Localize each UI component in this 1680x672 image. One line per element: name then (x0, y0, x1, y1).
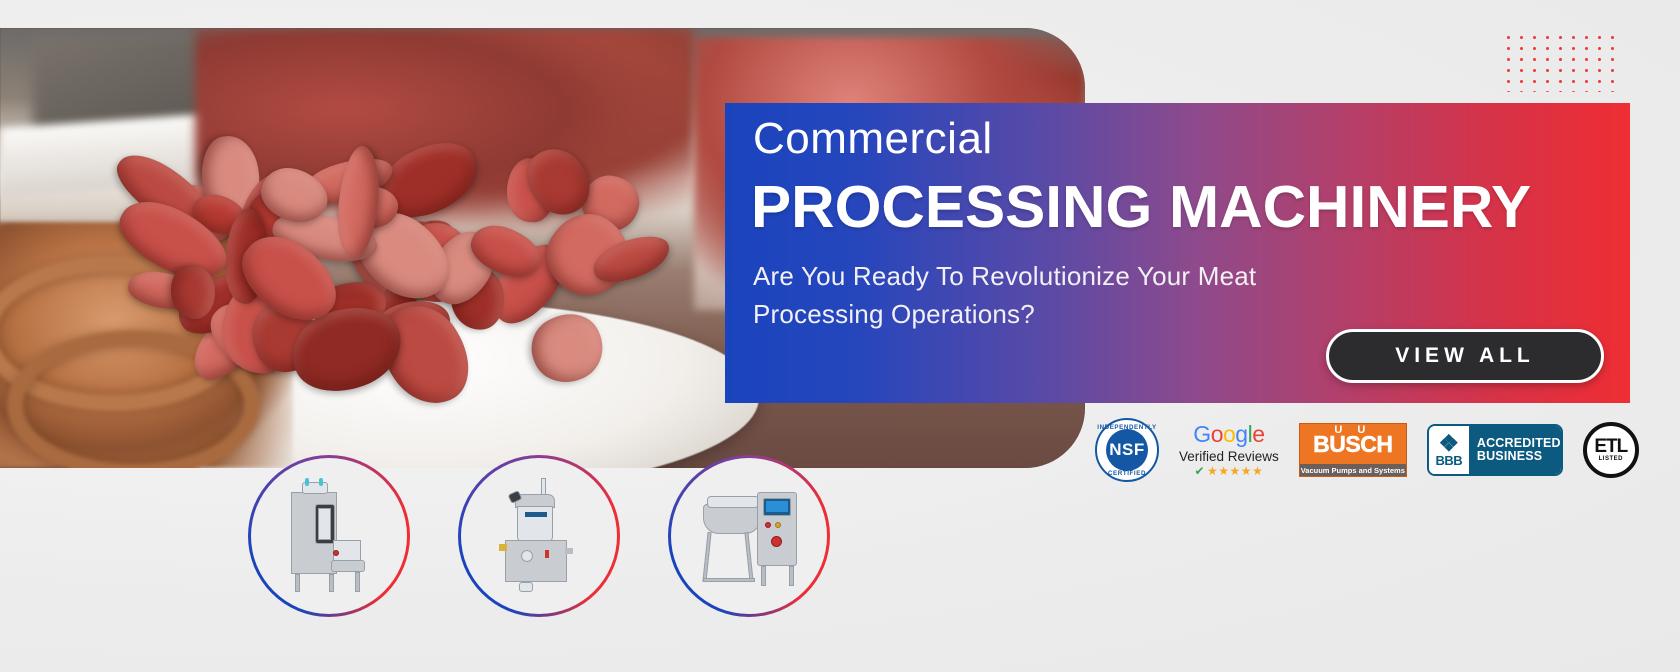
star-glyphs: ★★★★★ (1207, 465, 1263, 479)
bbb-accredited-business-badge: ❖ BBB ACCREDITED BUSINESS (1427, 424, 1563, 476)
dot-grid-decoration (1500, 30, 1624, 92)
bbb-line-2: BUSINESS (1477, 450, 1543, 464)
nsf-ring-bottom-text: CERTIFIED (1097, 470, 1157, 477)
hero-eyebrow: Commercial (753, 117, 993, 161)
nsf-logo-text: NSF (1106, 429, 1148, 471)
hero-subcopy: Are You Ready To Revolutionize Your Meat… (753, 258, 1373, 333)
google-star-rating: ✔ ★★★★★ (1179, 465, 1279, 479)
product-circle-inner (461, 458, 617, 614)
bbb-text-section: ACCREDITED BUSINESS (1469, 426, 1561, 474)
product-circle-meat-slicer-machine[interactable] (248, 455, 410, 617)
vacuum-filler-machine-illustration (485, 478, 593, 594)
view-all-button[interactable]: VIEW ALL (1326, 329, 1604, 383)
nsf-certified-badge: INDEPENDENTLY NSF CERTIFIED (1095, 418, 1159, 482)
etl-listed-badge: ETL LISTED (1583, 422, 1639, 478)
product-circle-meat-mixer-machine[interactable] (668, 455, 830, 617)
product-circle-inner (251, 458, 407, 614)
etl-listed-text: LISTED (1599, 456, 1623, 462)
meat-mixer-machine-illustration (695, 478, 803, 594)
product-circle-row (248, 455, 830, 617)
nsf-ring-top-text: INDEPENDENTLY (1097, 424, 1157, 431)
etl-wordmark: ETL (1594, 438, 1627, 456)
meat-slicer-machine-illustration (275, 478, 383, 594)
hero-headline: PROCESSING MACHINERY (751, 178, 1531, 237)
product-circle-vacuum-filler-machine[interactable] (458, 455, 620, 617)
bbb-torch-section: ❖ BBB (1429, 426, 1469, 474)
product-circle-inner (671, 458, 827, 614)
google-reviews-caption: Verified Reviews (1179, 449, 1279, 465)
bbb-abbreviation: BBB (1435, 453, 1462, 468)
busch-logo-badge: U U BUSCH Vacuum Pumps and Systems (1299, 423, 1407, 477)
google-verified-reviews-badge: Google Verified Reviews ✔ ★★★★★ (1179, 421, 1279, 479)
trust-badge-row: INDEPENDENTLY NSF CERTIFIED Google Verif… (1095, 418, 1639, 482)
busch-tagline: Vacuum Pumps and Systems (1300, 464, 1406, 476)
google-wordmark: Google (1179, 421, 1279, 447)
verified-check-icon: ✔ (1194, 465, 1205, 479)
busch-wordmark: BUSCH (1313, 432, 1392, 456)
hero-copy-panel: Commercial PROCESSING MACHINERY Are You … (725, 103, 1630, 403)
bbb-line-1: ACCREDITED (1477, 437, 1561, 451)
meat-pile (98, 142, 749, 380)
bbb-torch-icon: ❖ (1439, 433, 1460, 453)
